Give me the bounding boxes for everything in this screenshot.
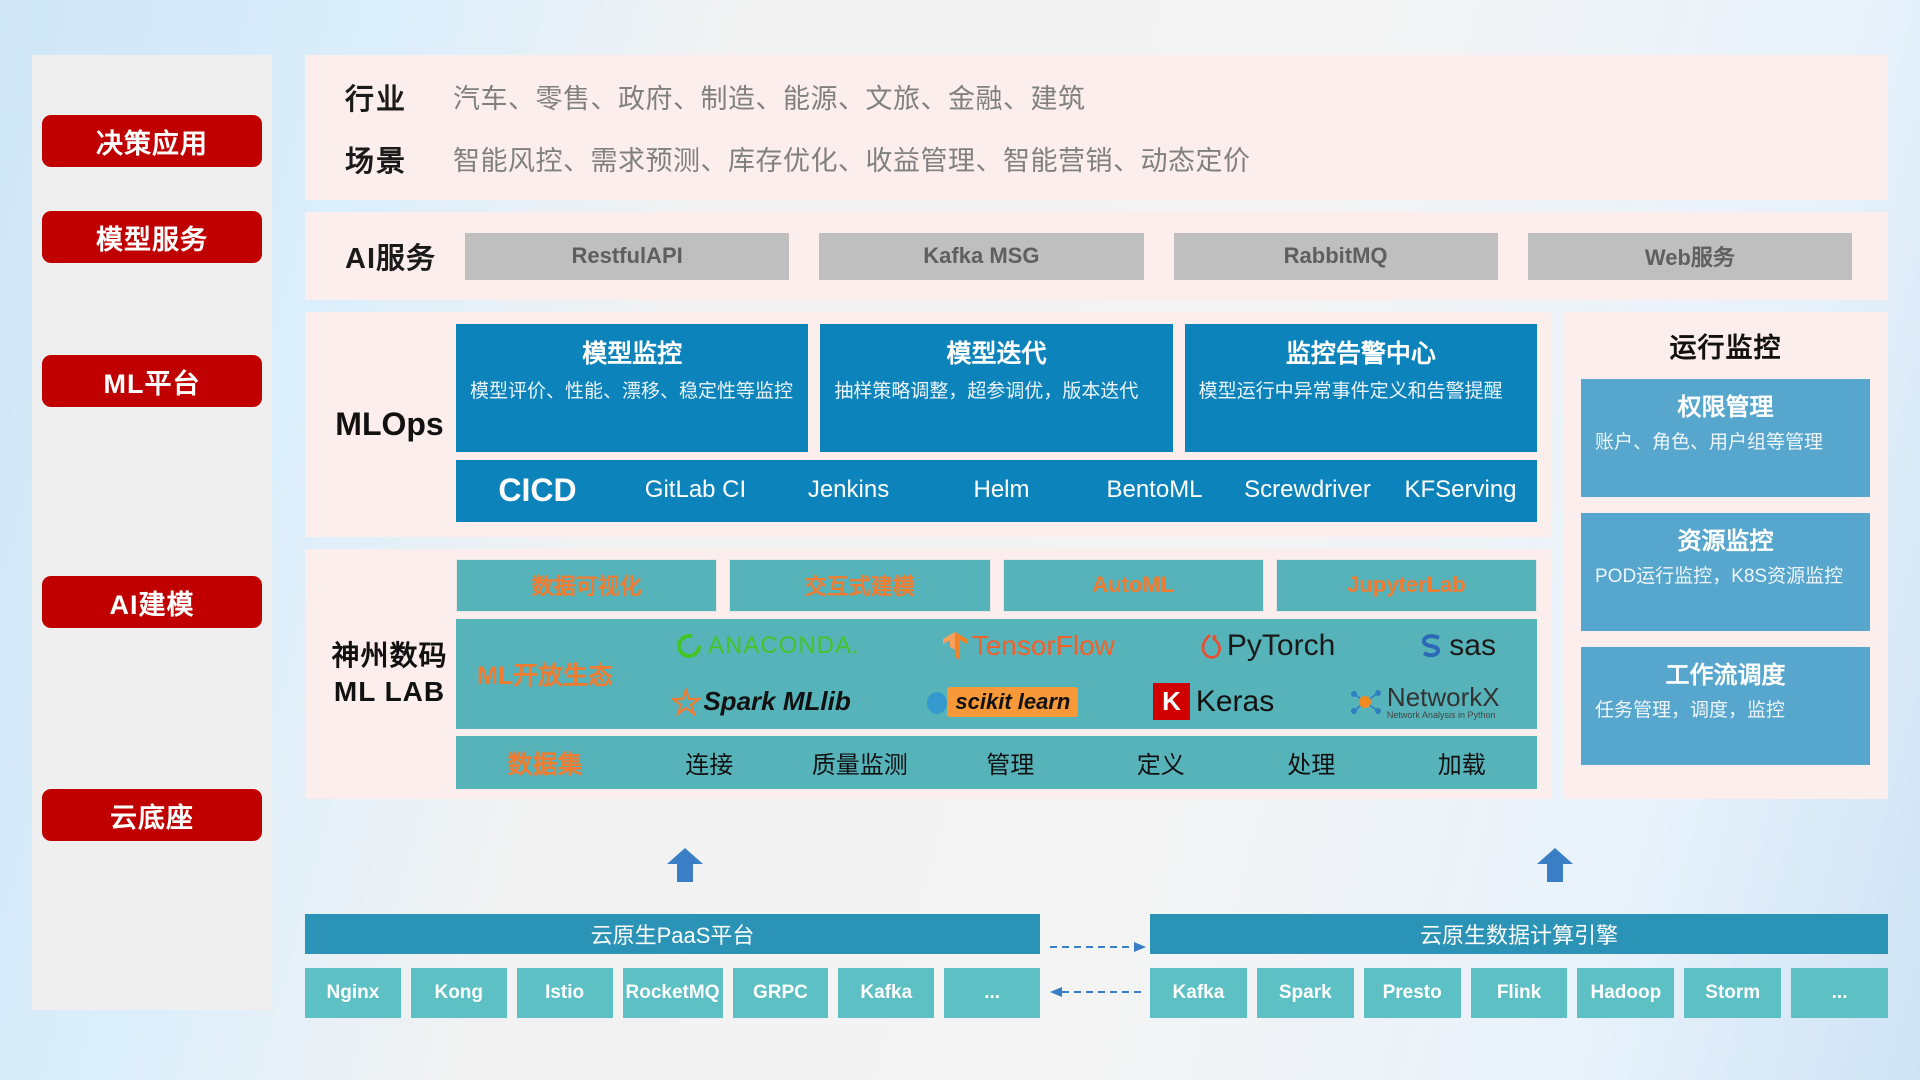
dataset-item[interactable]: 管理 [935, 745, 1086, 780]
band-gap [305, 537, 1551, 549]
band-gap [305, 200, 1888, 212]
runtime-monitor-column: 运行监控 权限管理 账户、角色、用户组等管理 资源监控 POD运行监控，K8S资… [1563, 312, 1888, 799]
pytorch-logo: PyTorch [1197, 629, 1335, 663]
dashed-arrow-left-icon [1050, 985, 1146, 1003]
mlops-band: MLOps 模型监控 模型评价、性能、漂移、稳定性等监控 模型迭代 抽样策略调整… [305, 312, 1551, 537]
ai-service-chip[interactable]: RestfulAPI [465, 233, 789, 280]
dataset-item[interactable]: 处理 [1236, 745, 1387, 780]
platform-left-column: MLOps 模型监控 模型评价、性能、漂移、稳定性等监控 模型迭代 抽样策略调整… [305, 312, 1551, 799]
up-arrow-icon [1535, 848, 1575, 887]
dataset-item[interactable]: 加载 [1387, 745, 1538, 780]
monitor-card-desc: POD运行监控，K8S资源监控 [1595, 564, 1856, 590]
cloud-data-engine-chip[interactable]: Hadoop [1577, 968, 1674, 1018]
industry-key: 行业 [345, 76, 453, 118]
dashed-arrow-right-icon [1050, 940, 1146, 958]
cloud-paas-chip[interactable]: Kong [411, 968, 507, 1018]
ai-service-key: AI服务 [345, 235, 465, 277]
monitor-card-title: 资源监控 [1595, 521, 1856, 556]
rail-label: 决策应用 [96, 122, 208, 161]
mlops-card-title: 模型迭代 [834, 334, 1158, 370]
runtime-monitor-band: 运行监控 权限管理 账户、角色、用户组等管理 资源监控 POD运行监控，K8S资… [1563, 312, 1888, 799]
cloud-paas-group: 云原生PaaS平台 Nginx Kong Istio RocketMQ GRPC… [305, 914, 1040, 1018]
mlops-key: MLOps [323, 324, 456, 525]
ai-service-chip[interactable]: Web服务 [1528, 233, 1852, 280]
left-rail: 决策应用 模型服务 ML平台 AI建模 云底座 [32, 55, 272, 1010]
cloud-data-engine-chip[interactable]: Spark [1257, 968, 1354, 1018]
cloud-paas-chip[interactable]: Kafka [838, 968, 934, 1018]
cloud-data-engine-chip-more[interactable]: ... [1791, 968, 1888, 1018]
decision-applications-band: 行业 汽车、零售、政府、制造、能源、文旅、金融、建筑 场景 智能风控、需求预测、… [305, 55, 1888, 200]
ml-lab-band: 神州数码 ML LAB 数据可视化 交互式建模 AutoML JupyterLa… [305, 549, 1551, 799]
anaconda-logo: ANACONDA. [675, 632, 860, 660]
mlops-card-title: 模型监控 [470, 334, 794, 370]
monitor-card-desc: 账户、角色、用户组等管理 [1595, 430, 1856, 456]
platform-middle: MLOps 模型监控 模型评价、性能、漂移、稳定性等监控 模型迭代 抽样策略调整… [305, 312, 1888, 799]
sas-label: sas [1449, 629, 1496, 663]
cloud-data-engine-title: 云原生数据计算引擎 [1150, 914, 1888, 954]
monitor-card-workflow[interactable]: 工作流调度 任务管理，调度，监控 [1581, 647, 1870, 765]
anaconda-label: ANACONDA. [708, 632, 860, 660]
spark-mllib-label: Spark MLlib [703, 686, 850, 717]
networkx-subtitle: Network Analysis in Python [1387, 710, 1500, 720]
ml-lab-key-line2: ML LAB [334, 674, 445, 710]
rail-label: 模型服务 [96, 218, 208, 257]
rail-label: AI建模 [110, 583, 195, 622]
dataset-item[interactable]: 质量监测 [785, 745, 936, 780]
cloud-foundation: 云原生PaaS平台 Nginx Kong Istio RocketMQ GRPC… [305, 880, 1888, 1030]
tool-chip-interactive-modeling[interactable]: 交互式建模 [729, 559, 990, 612]
ml-open-ecosystem-row: ML开放生态 ANACONDA. [456, 619, 1537, 730]
monitor-card-title: 权限管理 [1595, 387, 1856, 422]
cloud-data-engine-chip[interactable]: Presto [1364, 968, 1461, 1018]
monitor-card-title: 工作流调度 [1595, 655, 1856, 690]
cloud-data-engine-chip[interactable]: Flink [1471, 968, 1568, 1018]
cloud-paas-title: 云原生PaaS平台 [305, 914, 1040, 954]
networkx-label: NetworkX [1387, 684, 1500, 710]
cloud-data-engine-group: 云原生数据计算引擎 Kafka Spark Presto Flink Hadoo… [1150, 914, 1888, 1018]
ai-service-band: AI服务 RestfulAPI Kafka MSG RabbitMQ Web服务 [305, 212, 1888, 300]
cloud-data-engine-chip[interactable]: Kafka [1150, 968, 1247, 1018]
industry-line: 行业 汽车、零售、政府、制造、能源、文旅、金融、建筑 [345, 76, 1888, 118]
band-gap [305, 300, 1888, 312]
mlops-card-model-iteration[interactable]: 模型迭代 抽样策略调整，超参调优，版本迭代 [820, 324, 1172, 452]
cloud-paas-chip[interactable]: RocketMQ [623, 968, 723, 1018]
cicd-label: CICD [456, 460, 619, 509]
rail-cloud-base[interactable]: 云底座 [42, 789, 262, 841]
keras-logo: K Keras [1153, 683, 1274, 720]
monitor-card-desc: 任务管理，调度，监控 [1595, 698, 1856, 724]
cloud-paas-chip[interactable]: Istio [517, 968, 613, 1018]
rail-ml-platform[interactable]: ML平台 [42, 355, 262, 407]
industry-value: 汽车、零售、政府、制造、能源、文旅、金融、建筑 [453, 77, 1086, 116]
rail-label: ML平台 [104, 362, 201, 401]
tool-chip-data-visualization[interactable]: 数据可视化 [456, 559, 717, 612]
ml-open-ecosystem-label: ML开放生态 [456, 656, 634, 692]
cicd-bar: CICD GitLab CI Jenkins Helm BentoML Scre… [456, 460, 1537, 522]
cicd-item[interactable]: Screwdriver [1231, 460, 1384, 504]
scikit-learn-label: scikit learn [947, 687, 1078, 717]
cicd-item[interactable]: BentoML [1078, 460, 1231, 504]
rail-decision-apps[interactable]: 决策应用 [42, 115, 262, 167]
mlops-card-alert-center[interactable]: 监控告警中心 模型运行中异常事件定义和告警提醒 [1185, 324, 1537, 452]
keras-label: Keras [1196, 685, 1274, 719]
mlops-card-desc: 模型评价、性能、漂移、稳定性等监控 [470, 379, 794, 405]
ai-service-chip[interactable]: Kafka MSG [819, 233, 1143, 280]
ai-service-chip[interactable]: RabbitMQ [1174, 233, 1498, 280]
cicd-item[interactable]: Helm [925, 460, 1078, 504]
ml-lab-key: 神州数码 ML LAB [323, 559, 456, 789]
networkx-logo: NetworkX Network Analysis in Python [1349, 684, 1500, 720]
dataset-label: 数据集 [456, 745, 634, 781]
mlops-card-title: 监控告警中心 [1199, 334, 1523, 370]
tool-chip-automl[interactable]: AutoML [1003, 559, 1264, 612]
scikit-learn-logo: scikit learn [925, 687, 1078, 717]
up-arrow-icon [665, 848, 705, 887]
pytorch-label: PyTorch [1227, 629, 1335, 663]
scenario-key: 场景 [345, 138, 453, 180]
mlops-card-model-monitoring[interactable]: 模型监控 模型评价、性能、漂移、稳定性等监控 [456, 324, 808, 452]
cicd-item[interactable]: GitLab CI [619, 460, 772, 504]
mlops-card-desc: 抽样策略调整，超参调优，版本迭代 [834, 379, 1158, 405]
cloud-paas-chip-more[interactable]: ... [944, 968, 1040, 1018]
cloud-paas-chip[interactable]: GRPC [733, 968, 829, 1018]
dataset-item[interactable]: 连接 [634, 745, 785, 780]
tensorflow-logo: TensorFlow [942, 630, 1115, 662]
tensorflow-label: TensorFlow [972, 630, 1115, 662]
spark-mllib-logo: Spark MLlib [671, 686, 850, 717]
tool-chip-jupyterlab[interactable]: JupyterLab [1276, 559, 1537, 612]
architecture-stack: 行业 汽车、零售、政府、制造、能源、文旅、金融、建筑 场景 智能风控、需求预测、… [305, 55, 1888, 799]
rail-ai-modeling[interactable]: AI建模 [42, 576, 262, 628]
cloud-paas-chip[interactable]: Nginx [305, 968, 401, 1018]
dataset-item[interactable]: 定义 [1086, 745, 1237, 780]
runtime-monitor-title: 运行监控 [1581, 326, 1870, 365]
scenario-value: 智能风控、需求预测、库存优化、收益管理、智能营销、动态定价 [453, 139, 1251, 178]
ml-lab-key-line1: 神州数码 [331, 638, 447, 674]
sas-logo: sas [1417, 629, 1496, 663]
cicd-item[interactable]: KFServing [1384, 460, 1537, 504]
monitor-card-resources[interactable]: 资源监控 POD运行监控，K8S资源监控 [1581, 513, 1870, 631]
dataset-row: 数据集 连接 质量监测 管理 定义 处理 加载 [456, 736, 1537, 789]
cicd-item[interactable]: Jenkins [772, 460, 925, 504]
mlops-card-desc: 模型运行中异常事件定义和告警提醒 [1199, 379, 1523, 405]
rail-label: 云底座 [110, 796, 194, 835]
cloud-data-engine-chip[interactable]: Storm [1684, 968, 1781, 1018]
rail-model-service[interactable]: 模型服务 [42, 211, 262, 263]
scenario-line: 场景 智能风控、需求预测、库存优化、收益管理、智能营销、动态定价 [345, 138, 1888, 180]
monitor-card-permissions[interactable]: 权限管理 账户、角色、用户组等管理 [1581, 379, 1870, 497]
